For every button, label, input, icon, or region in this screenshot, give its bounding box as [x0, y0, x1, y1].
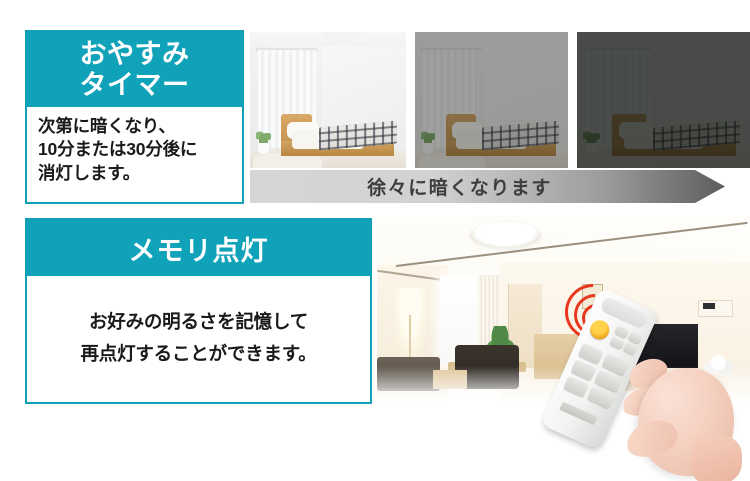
memory-light-description: お好みの明るさを記憶して 再点灯することができます。: [27, 276, 370, 371]
dimming-caption: 徐々に暗くなります: [367, 173, 552, 200]
plant-pot: [258, 143, 269, 154]
bedroom-scene: [250, 32, 406, 168]
bedroom-photo-darkest: [577, 32, 750, 168]
remote-button-2[interactable]: [628, 331, 643, 344]
memory-light-desc-line1: お好みの明るさを記憶して: [27, 306, 370, 338]
hand: [620, 352, 738, 480]
promo-page: おやすみ タイマー 次第に暗くなり、 10分または30分後に 消灯します。: [0, 0, 750, 481]
plant-pot: [423, 143, 434, 154]
bedroom-scene: [577, 32, 750, 168]
wrist: [692, 436, 742, 481]
memory-light-desc-line2: 再点灯することができます。: [27, 338, 370, 370]
sleep-timer-title-line2: タイマー: [80, 70, 190, 100]
dimming-arrow-banner: 徐々に暗くなります: [250, 170, 725, 203]
sleep-timer-description: 次第に暗くなり、 10分または30分後に 消灯します。: [27, 107, 242, 185]
plant-pot: [586, 143, 598, 154]
memory-light-button[interactable]: [587, 317, 612, 342]
ceiling-light-fixture: [470, 222, 541, 249]
potted-plant: [582, 127, 601, 154]
bedroom-photo-bright: [250, 32, 406, 168]
sleep-timer-desc-line3: 消灯します。: [38, 162, 242, 185]
potted-plant: [255, 127, 272, 154]
memory-light-card: メモリ点灯 お好みの明るさを記憶して 再点灯することができます。: [25, 218, 372, 404]
remote-button-1[interactable]: [614, 325, 630, 339]
sleep-timer-desc-line1: 次第に暗くなり、: [38, 115, 242, 138]
sleep-timer-desc-line2: 10分または30分後に: [38, 138, 242, 161]
remote-button-3[interactable]: [609, 336, 625, 350]
memory-light-title: メモリ点灯: [129, 229, 269, 268]
sleep-timer-title-line1: おやすみ: [80, 39, 190, 69]
potted-plant: [420, 127, 437, 154]
remote-brand-plate: [559, 401, 597, 425]
memory-light-header: メモリ点灯: [27, 220, 370, 276]
bedroom-photo-dimmed: [415, 32, 568, 168]
remote-control-in-hand: [592, 300, 737, 480]
sleep-timer-header: おやすみ タイマー: [27, 32, 242, 107]
sleep-timer-card: おやすみ タイマー 次第に暗くなり、 10分または30分後に 消灯します。: [25, 30, 244, 204]
bedroom-scene: [415, 32, 568, 168]
